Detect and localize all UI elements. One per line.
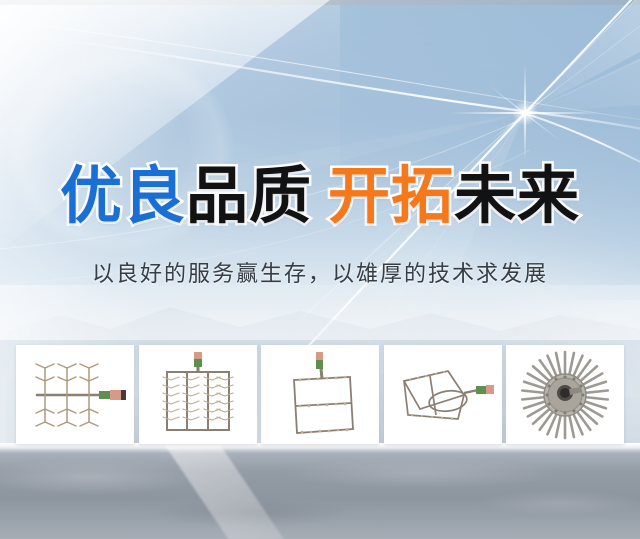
headline-segment-1: 优良 xyxy=(60,162,186,231)
product-card-1[interactable]: multi-branch-hanging-rack xyxy=(16,345,134,444)
page-title: 优良品质开拓未来 xyxy=(0,163,640,231)
spike-rack-icon xyxy=(155,350,241,440)
page-subtitle: 以良好的服务赢生存，以雄厚的技术求发展 xyxy=(0,259,640,289)
spoke-disc-icon xyxy=(519,349,611,441)
headline-segment-2: 品质 xyxy=(186,162,312,231)
headline-segment-3: 开拓 xyxy=(328,162,454,231)
promo-banner: 优良品质开拓未来 以良好的服务赢生存，以雄厚的技术求发展 multi-branc… xyxy=(0,0,640,539)
product-card-5[interactable]: radial-spoke-disc xyxy=(506,345,624,444)
product-card-3[interactable]: rectangular-frame-rack xyxy=(261,345,379,444)
ground-texture xyxy=(0,443,640,539)
product-thumbnail-row: multi-branch-hanging-rack xyxy=(16,345,624,445)
panel-ring-rack-icon xyxy=(392,359,494,431)
product-card-2[interactable]: comb-spike-drying-rack xyxy=(139,345,257,444)
branch-rack-icon xyxy=(23,354,127,436)
frame-rack-icon xyxy=(278,350,362,440)
ground-floor xyxy=(0,443,640,539)
headline-segment-4: 未来 xyxy=(454,162,580,231)
product-card-4[interactable]: flat-panel-ring-rack xyxy=(384,345,502,444)
